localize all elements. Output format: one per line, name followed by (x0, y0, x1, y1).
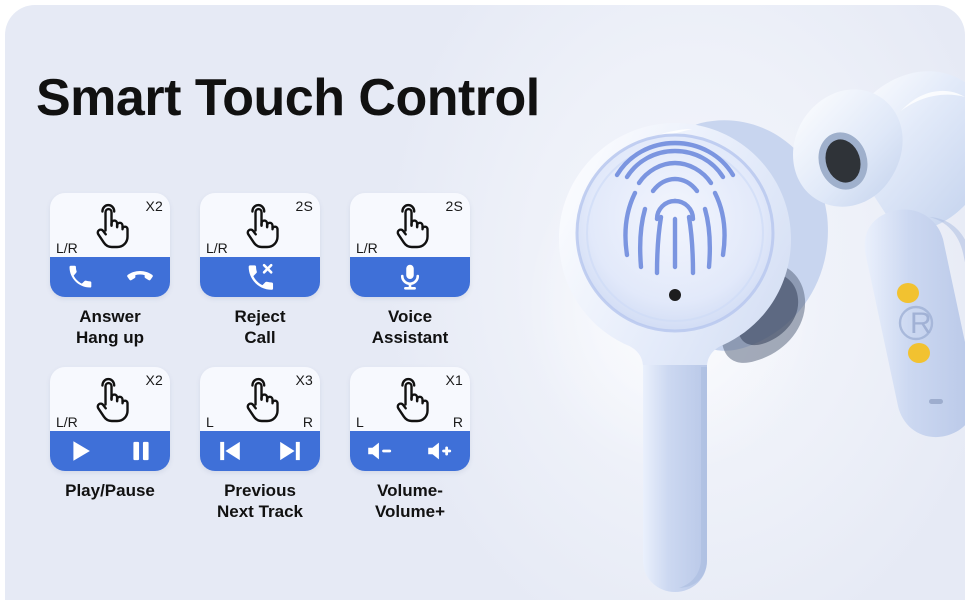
earbud-side-label-right: R (303, 414, 313, 430)
microphone-icon (395, 262, 425, 292)
earbud-side-label-left: L (206, 414, 214, 430)
card-top-area: X3 L R (200, 367, 320, 431)
action-icon-band (350, 257, 470, 297)
phone-answer-icon (66, 263, 94, 291)
phone-hangup-icon (125, 262, 155, 292)
feature-card: X1 L R (350, 367, 470, 471)
left-earbud (525, 120, 828, 592)
feature-card: 2S L/R (350, 193, 470, 297)
feature-volume[interactable]: X1 L R (335, 367, 485, 523)
tap-duration-badge: 2S (445, 198, 463, 214)
feature-card: 2S L/R (200, 193, 320, 297)
pause-icon (128, 438, 154, 464)
earbud-side-label-left: L/R (56, 240, 78, 256)
tap-hand-icon (238, 373, 284, 425)
feature-play-pause[interactable]: X2 L/R (35, 367, 185, 523)
feature-reject-call[interactable]: 2S L/R (185, 193, 335, 349)
tap-hand-icon (388, 199, 434, 251)
earbuds-illustration: R (505, 5, 965, 600)
earbud-side-label-right: R (453, 414, 463, 430)
tap-count-badge: X1 (445, 372, 463, 388)
action-icon-band (50, 257, 170, 297)
tap-hand-icon (238, 199, 284, 251)
action-icon-band (200, 257, 320, 297)
tap-duration-badge: 2S (295, 198, 313, 214)
feature-previous-next-track[interactable]: X3 L R (185, 367, 335, 523)
mic-slot (929, 399, 943, 404)
feature-caption: Answer Hang up (76, 306, 144, 349)
feature-card: X2 L/R (50, 193, 170, 297)
card-top-area: X2 L/R (50, 367, 170, 431)
gold-charging-contact (908, 343, 930, 363)
product-image: R (505, 5, 965, 600)
earbud-side-label-left: L/R (356, 240, 378, 256)
page-title: Smart Touch Control (36, 71, 540, 126)
card-top-area: X1 L R (350, 367, 470, 431)
action-icon-band (350, 431, 470, 471)
action-icon-band (200, 431, 320, 471)
card-top-area: 2S L/R (200, 193, 320, 257)
next-track-icon (276, 437, 304, 465)
feature-answer-hang-up[interactable]: X2 L/R (35, 193, 185, 349)
infographic-canvas: Smart Touch Control X2 L/R (0, 0, 970, 600)
feature-caption: Play/Pause (65, 480, 155, 501)
tap-count-badge: X2 (145, 372, 163, 388)
left-earbud-stem (643, 365, 707, 592)
tap-count-badge: X2 (145, 198, 163, 214)
feature-card: X2 L/R (50, 367, 170, 471)
tap-hand-icon (88, 373, 134, 425)
play-icon (67, 437, 95, 465)
feature-grid: X2 L/R (35, 193, 505, 522)
feature-caption: Volume- Volume+ (375, 480, 445, 523)
tap-count-badge: X3 (295, 372, 313, 388)
gold-charging-contact (897, 283, 919, 303)
tap-hand-icon (388, 373, 434, 425)
feature-card: X3 L R (200, 367, 320, 471)
card-top-area: 2S L/R (350, 193, 470, 257)
card-top-area: X2 L/R (50, 193, 170, 257)
phone-reject-icon (244, 261, 276, 293)
led-indicator-dot (669, 289, 681, 301)
feature-caption: Voice Assistant (372, 306, 449, 349)
volume-down-icon (365, 438, 395, 464)
previous-track-icon (216, 437, 244, 465)
action-icon-band (50, 431, 170, 471)
feature-caption: Previous Next Track (217, 480, 303, 523)
earbud-side-label-left: L (356, 414, 364, 430)
volume-up-icon (425, 438, 455, 464)
content-panel: Smart Touch Control X2 L/R (5, 5, 965, 600)
earbud-side-label-left: L/R (206, 240, 228, 256)
tap-hand-icon (88, 199, 134, 251)
feature-caption: Reject Call (234, 306, 285, 349)
feature-voice-assistant[interactable]: 2S L/R (335, 193, 485, 349)
earbud-side-label-left: L/R (56, 414, 78, 430)
